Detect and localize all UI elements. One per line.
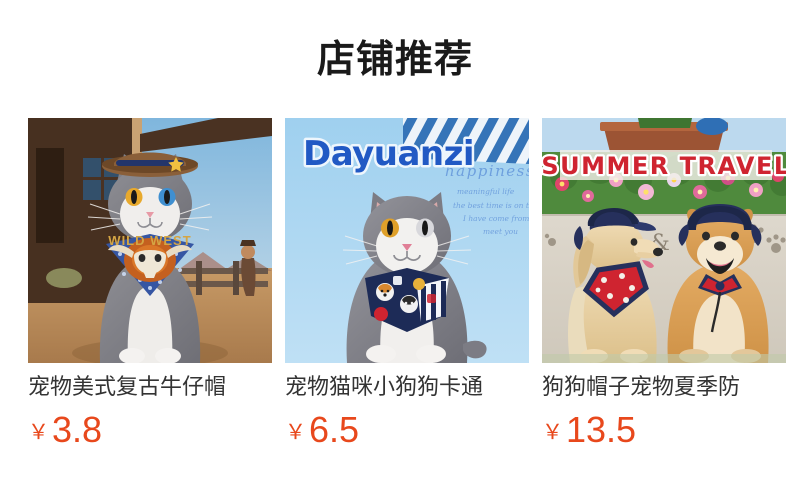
summer-travel-banner: SUMMER TRAVEL SUMMER TRAVEL — [542, 150, 786, 180]
product-list: WILD WEST 宠物美式复古牛仔帽 ￥3.8 — [28, 118, 790, 450]
product-price: ￥6.5 — [285, 410, 529, 450]
product-card[interactable]: SUMMER TRAVEL SUMMER TRAVEL & — [542, 118, 786, 450]
currency-symbol: ￥ — [285, 420, 306, 444]
svg-text:meet you: meet you — [483, 227, 518, 236]
currency-symbol: ￥ — [28, 420, 49, 444]
price-amount: 6.5 — [309, 409, 359, 450]
store-recommendation-page: 店铺推荐 — [0, 0, 790, 496]
product-image-dayuanzi-cat[interactable]: happiness meaningful life the best time … — [285, 118, 529, 363]
dayuanzi-wordmark: Dayuanzi Dayuanzi — [303, 134, 474, 174]
price-amount: 3.8 — [52, 409, 102, 450]
product-price: ￥3.8 — [28, 410, 272, 450]
svg-text:the best time is on time: the best time is on time — [453, 201, 529, 210]
product-title: 狗狗帽子宠物夏季防 — [542, 374, 786, 401]
svg-text:meaningful life: meaningful life — [457, 187, 515, 196]
page-title: 店铺推荐 — [0, 36, 790, 82]
product-image-summer-travel-dogs[interactable]: SUMMER TRAVEL SUMMER TRAVEL & — [542, 118, 786, 363]
product-price: ￥13.5 — [542, 410, 786, 450]
product-title: 宠物猫咪小狗狗卡通 — [285, 374, 529, 401]
summer-travel-dogs-illustration: SUMMER TRAVEL SUMMER TRAVEL & — [542, 118, 786, 363]
svg-text:Dayuanzi: Dayuanzi — [303, 134, 474, 174]
currency-symbol: ￥ — [542, 420, 563, 444]
dayuanzi-cat-illustration: happiness meaningful life the best time … — [285, 118, 529, 363]
cowboy-cat-illustration: WILD WEST — [28, 118, 272, 363]
product-image-cowboy-cat[interactable]: WILD WEST — [28, 118, 272, 363]
price-amount: 13.5 — [566, 409, 636, 450]
product-card[interactable]: happiness meaningful life the best time … — [285, 118, 529, 450]
svg-text:WILD WEST: WILD WEST — [108, 233, 191, 248]
svg-text:SUMMER TRAVEL: SUMMER TRAVEL — [542, 152, 786, 180]
svg-text:I have come from afar: I have come from afar — [462, 214, 529, 223]
product-card[interactable]: WILD WEST 宠物美式复古牛仔帽 ￥3.8 — [28, 118, 272, 450]
product-title: 宠物美式复古牛仔帽 — [28, 374, 272, 401]
